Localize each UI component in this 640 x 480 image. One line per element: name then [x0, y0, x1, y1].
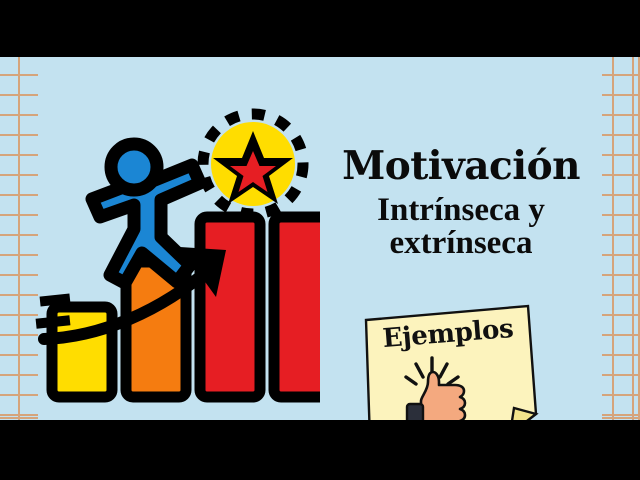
page-subtitle: Intrínseca y extrínseca	[318, 194, 604, 260]
title-block: Motivación Intrínseca y extrínseca	[318, 147, 604, 260]
motivation-illustration	[30, 87, 320, 417]
bar-4-red	[274, 217, 320, 397]
bar-3-orange	[200, 217, 260, 397]
letterbox-bottom-bar	[0, 420, 640, 480]
bar-chart-group	[52, 217, 320, 397]
person-head	[111, 144, 157, 190]
examples-sticky-note[interactable]: Ejemplos	[360, 304, 540, 420]
thumb-cuff	[407, 404, 423, 420]
page-title: Motivación	[318, 147, 604, 187]
running-person-icon	[92, 144, 200, 283]
subtitle-line-1: Intrínseca y	[318, 194, 604, 227]
letterbox-top-bar	[0, 0, 640, 57]
star-badge-icon	[203, 114, 303, 214]
subtitle-line-2: extrínseca	[318, 227, 604, 260]
slide-background: Ejemplos Motivación Intrínseca y extríns…	[0, 57, 640, 420]
thumbnail-canvas: Ejemplos Motivación Intrínseca y extríns…	[0, 0, 640, 480]
